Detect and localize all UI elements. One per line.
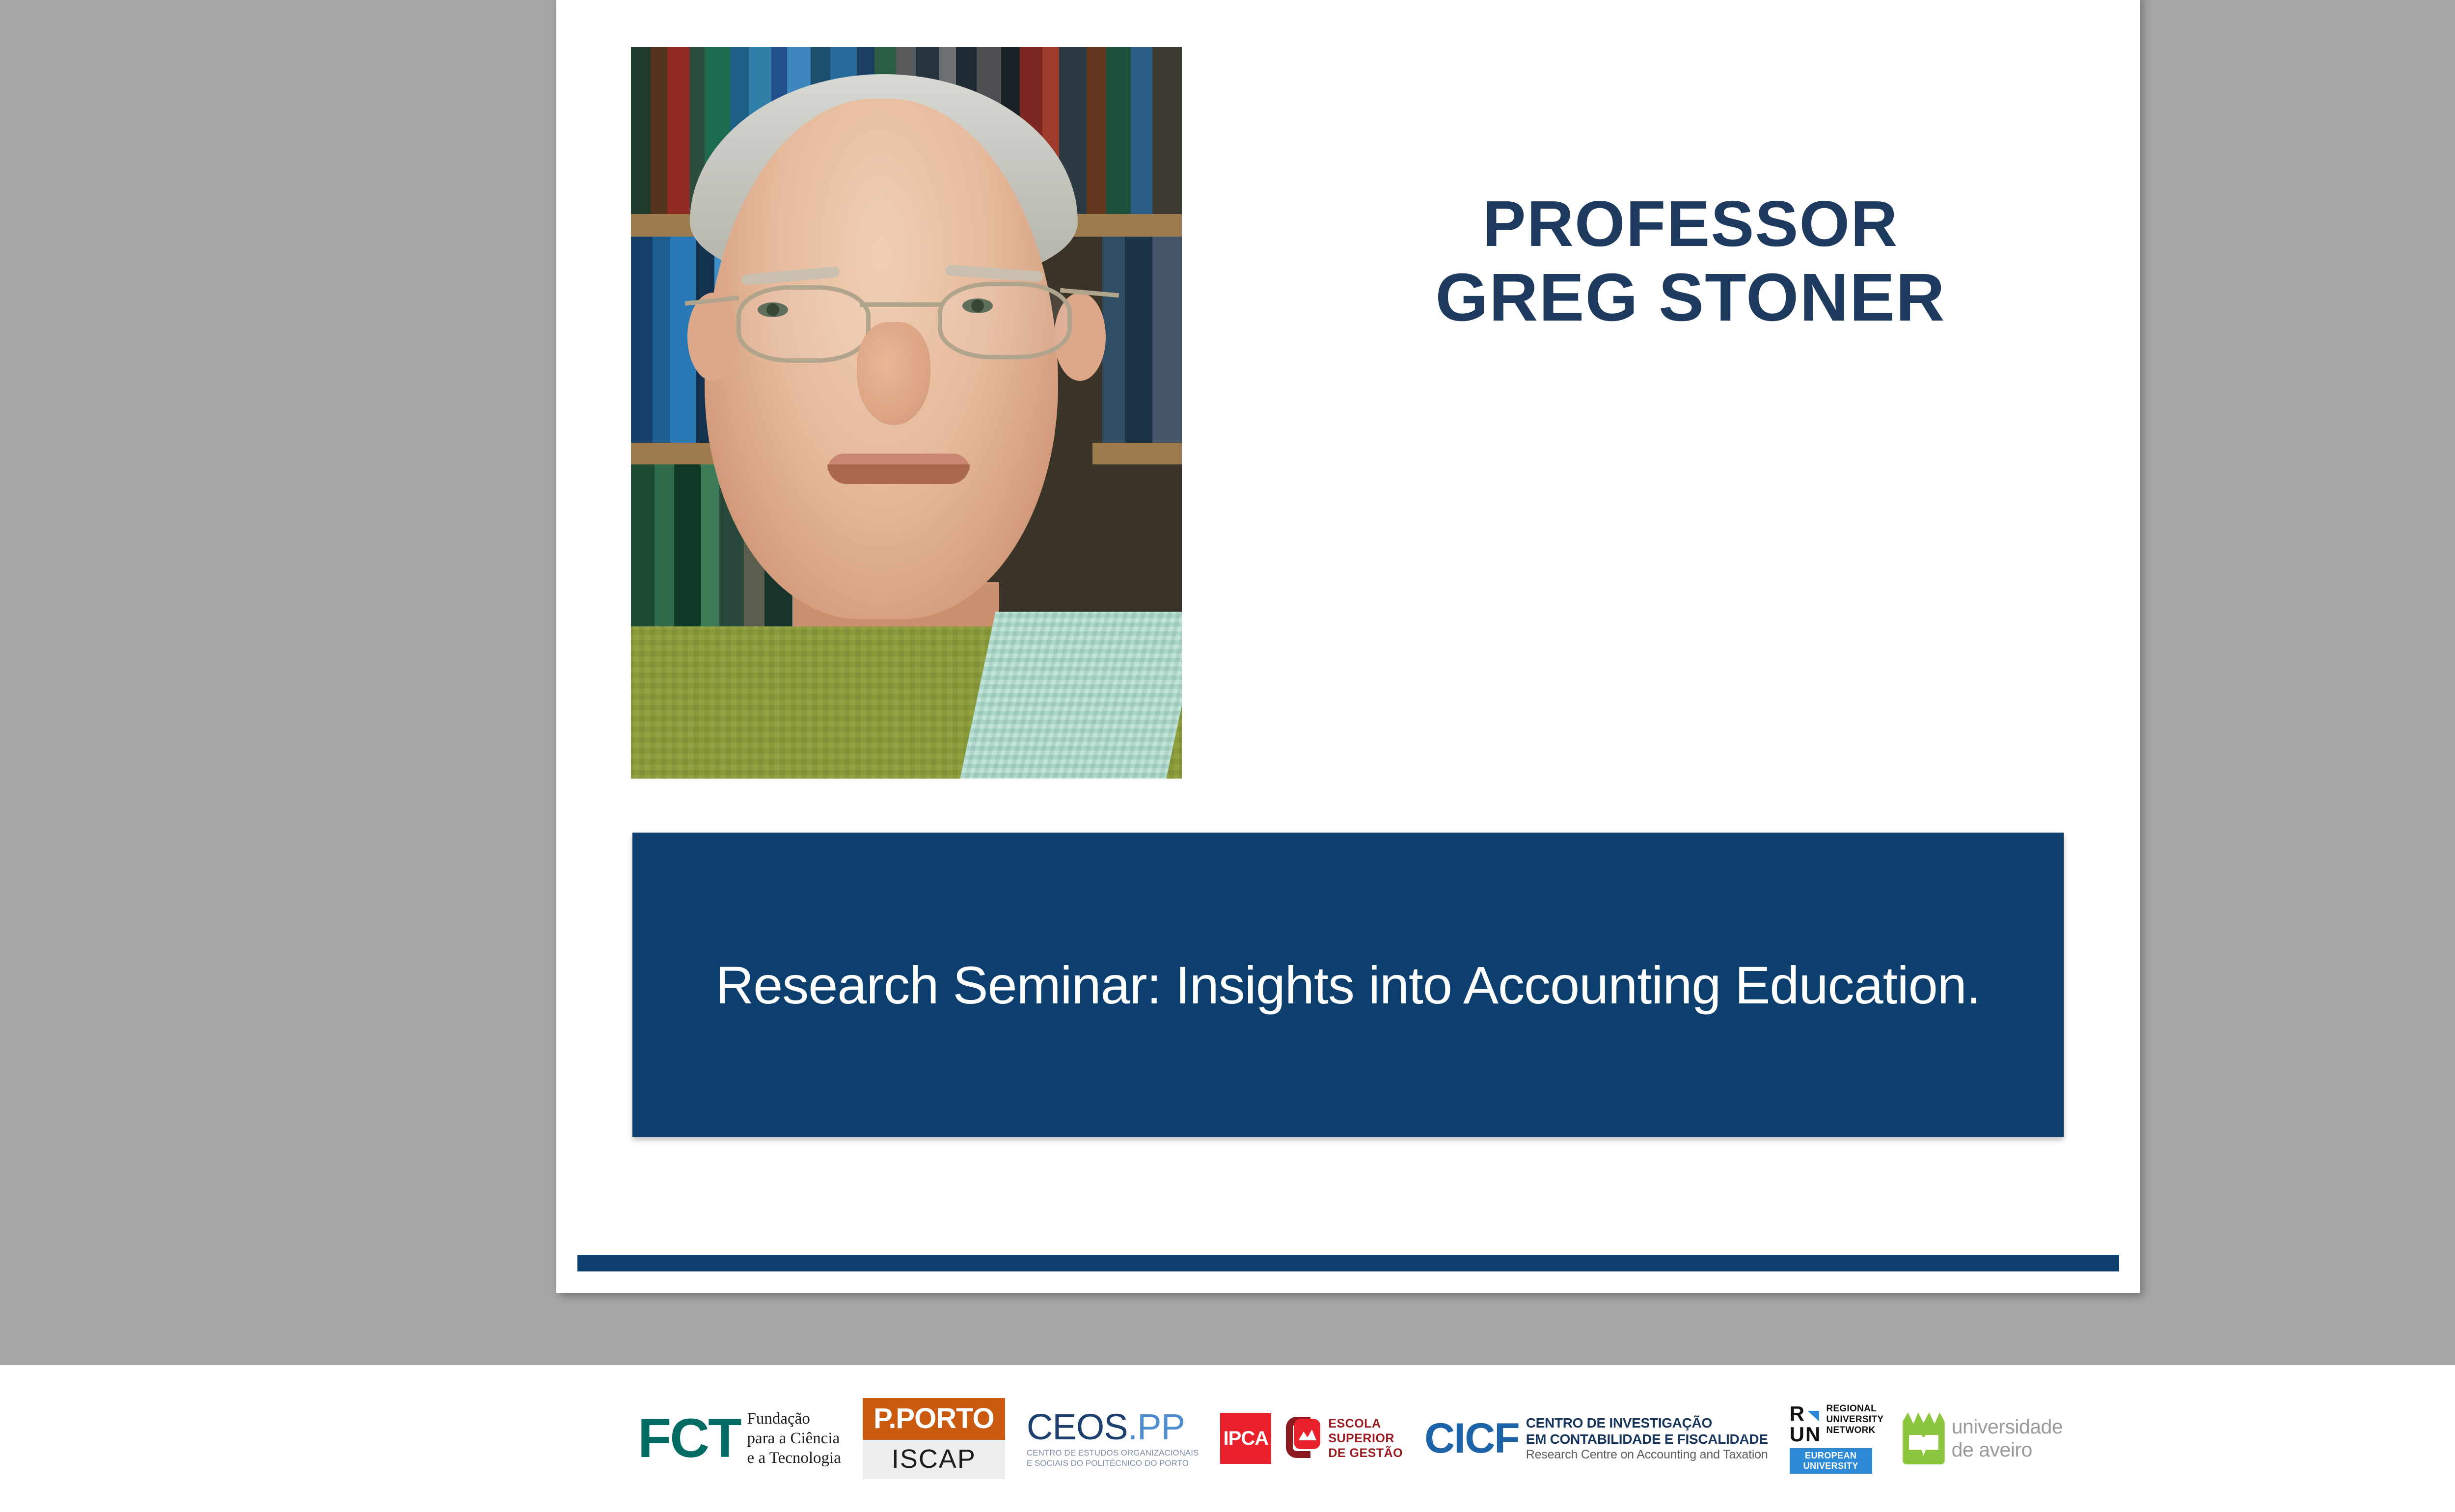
aveiro-line-2: de aveiro xyxy=(1952,1438,2063,1461)
speaker-photo xyxy=(631,47,1182,779)
aveiro-crown-book-icon xyxy=(1903,1412,1945,1464)
run-fullname: REGIONAL UNIVERSITY NETWORK xyxy=(1826,1404,1883,1436)
ceos-mark-main: CEOS xyxy=(1027,1406,1128,1447)
run-letter-r: R xyxy=(1790,1402,1805,1425)
speaker-name-line: GREG STONER xyxy=(1322,261,2059,334)
fct-line-1: Fundação xyxy=(747,1409,841,1429)
aveiro-line-1: universidade xyxy=(1952,1415,2063,1438)
glasses-bridge xyxy=(860,302,941,307)
cicf-line-2: EM CONTABILIDADE E FISCALIDADE xyxy=(1526,1431,1768,1447)
run-letters: R UN xyxy=(1790,1404,1822,1445)
nose xyxy=(857,322,930,425)
fct-fullname: Fundação para a Ciência e a Tecnologia xyxy=(747,1409,841,1468)
cicf-line-3: Research Centre on Accounting and Taxati… xyxy=(1526,1447,1768,1462)
iscap-wordmark: ISCAP xyxy=(863,1440,1005,1479)
sponsor-logo-row: FCT Fundação para a Ciência e a Tecnolog… xyxy=(0,1365,2455,1512)
fct-line-3: e a Tecnologia xyxy=(747,1448,841,1468)
aveiro-wordmark: universidade de aveiro xyxy=(1952,1415,2063,1461)
logo-ipca-esg: IPCA ESCOLA SUPERIOR DE GESTÃO xyxy=(1220,1413,1403,1464)
speaker-title-line: PROFESSOR xyxy=(1322,187,2059,261)
presentation-slide: PROFESSOR GREG STONER Research Seminar: … xyxy=(556,0,2140,1293)
esg-line-2: SUPERIOR xyxy=(1328,1431,1403,1446)
slide-backdrop: PROFESSOR GREG STONER Research Seminar: … xyxy=(0,0,2455,1365)
pporto-wordmark: P.PORTO xyxy=(863,1398,1005,1440)
ceos-fullname: CENTRO DE ESTUDOS ORGANIZACIONAIS E SOCI… xyxy=(1027,1448,1199,1468)
esg-monogram-icon xyxy=(1277,1415,1322,1462)
fct-line-2: para a Ciência xyxy=(747,1429,841,1448)
ceos-sub-line-1: CENTRO DE ESTUDOS ORGANIZACIONAIS xyxy=(1027,1448,1199,1458)
logo-universidade-de-aveiro: universidade de aveiro xyxy=(1903,1412,2063,1464)
ipca-wordmark: IPCA xyxy=(1220,1413,1271,1464)
logo-p-porto-iscap: P.PORTO ISCAP xyxy=(863,1398,1005,1479)
seminar-title-text: Research Seminar: Insights into Accounti… xyxy=(715,954,1981,1016)
run-flag-icon xyxy=(1807,1411,1819,1422)
run-sub-line-2: UNIVERSITY xyxy=(1826,1414,1883,1425)
ceos-mark-suffix: .PP xyxy=(1128,1406,1185,1447)
run-sub-line-1: REGIONAL xyxy=(1826,1404,1883,1414)
logo-run: R UN REGIONAL UNIVERSITY NETWORK EUROPEA… xyxy=(1790,1404,1881,1474)
esg-line-3: DE GESTÃO xyxy=(1328,1446,1403,1460)
cicf-wordmark: CICF xyxy=(1424,1414,1519,1463)
logo-ceos-pp: CEOS.PP CENTRO DE ESTUDOS ORGANIZACIONAI… xyxy=(1027,1408,1199,1468)
cicf-fullname: CENTRO DE INVESTIGAÇÃO EM CONTABILIDADE … xyxy=(1526,1415,1768,1462)
ear-left xyxy=(687,293,739,381)
glasses-lens-left xyxy=(736,285,871,363)
seminar-title-banner: Research Seminar: Insights into Accounti… xyxy=(632,833,2064,1137)
esg-fullname: ESCOLA SUPERIOR DE GESTÃO xyxy=(1328,1416,1403,1460)
logo-cicf: CICF CENTRO DE INVESTIGAÇÃO EM CONTABILI… xyxy=(1424,1414,1768,1463)
sponsor-footer: FCT Fundação para a Ciência e a Tecnolog… xyxy=(0,1365,2455,1512)
mouth xyxy=(827,464,970,484)
ceos-wordmark: CEOS.PP xyxy=(1027,1408,1199,1446)
aveiro-book-shape xyxy=(1909,1435,1938,1456)
bottom-accent-bar xyxy=(577,1255,2119,1271)
run-badge: EUROPEAN UNIVERSITY xyxy=(1790,1448,1872,1474)
esg-line-1: ESCOLA xyxy=(1328,1416,1403,1431)
fct-wordmark: FCT xyxy=(638,1414,740,1463)
ceos-sub-line-2: E SOCIAIS DO POLITÉCNICO DO PORTO xyxy=(1027,1458,1199,1468)
run-sub-line-3: NETWORK xyxy=(1826,1425,1883,1436)
logo-fct: FCT Fundação para a Ciência e a Tecnolog… xyxy=(638,1409,841,1468)
speaker-name-block: PROFESSOR GREG STONER xyxy=(1322,187,2059,334)
glasses-lens-right xyxy=(938,282,1072,359)
cicf-line-1: CENTRO DE INVESTIGAÇÃO xyxy=(1526,1415,1768,1431)
run-letters-un: UN xyxy=(1790,1424,1822,1445)
